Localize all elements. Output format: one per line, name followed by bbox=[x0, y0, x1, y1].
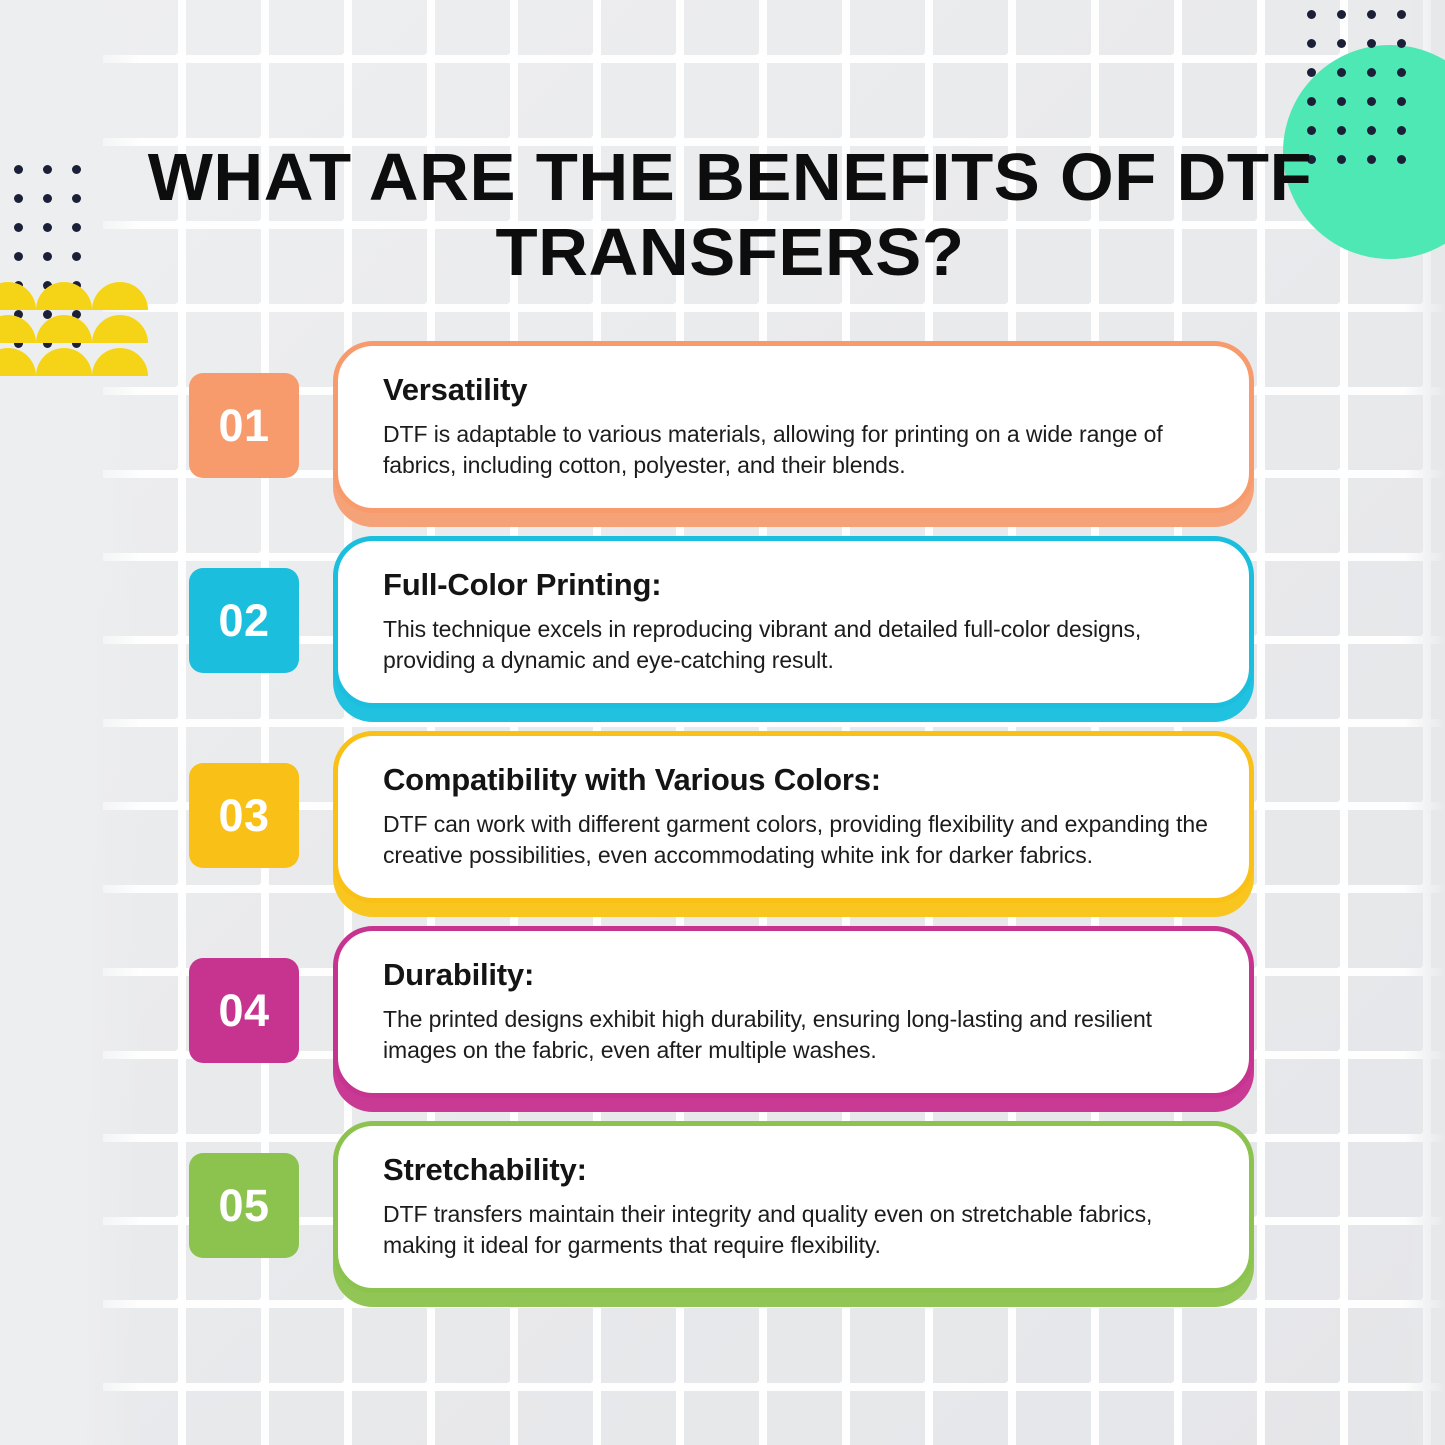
benefit-card: Durability:The printed designs exhibit h… bbox=[333, 926, 1254, 1098]
page-title-line-1: WHAT ARE THE BENEFITS OF DTF bbox=[133, 140, 1328, 215]
decorative-dot bbox=[14, 194, 23, 203]
benefit-card-surface: Full-Color Printing:This technique excel… bbox=[333, 536, 1254, 708]
decorative-dot bbox=[14, 223, 23, 232]
benefit-description: DTF can work with different garment colo… bbox=[383, 809, 1209, 871]
benefit-title: Compatibility with Various Colors: bbox=[383, 762, 1209, 798]
page-title-line-2: TRANSFERS? bbox=[133, 215, 1328, 290]
benefit-row: 04Durability:The printed designs exhibit… bbox=[0, 926, 1445, 1121]
benefit-row: 02Full-Color Printing:This technique exc… bbox=[0, 536, 1445, 731]
benefit-number: 05 bbox=[218, 1180, 269, 1232]
benefit-card-surface: Compatibility with Various Colors:DTF ca… bbox=[333, 731, 1254, 903]
decorative-dot bbox=[72, 194, 81, 203]
benefit-title: Stretchability: bbox=[383, 1152, 1209, 1188]
decorative-dot bbox=[1397, 97, 1406, 106]
benefit-card-surface: VersatilityDTF is adaptable to various m… bbox=[333, 341, 1254, 513]
half-circle-shape bbox=[0, 315, 36, 343]
benefit-title: Versatility bbox=[383, 372, 1209, 408]
benefit-number-badge: 01 bbox=[189, 373, 299, 478]
decorative-dot bbox=[1307, 97, 1316, 106]
benefit-description: The printed designs exhibit high durabil… bbox=[383, 1004, 1209, 1066]
decorative-dot bbox=[1337, 68, 1346, 77]
benefit-card: Stretchability:DTF transfers maintain th… bbox=[333, 1121, 1254, 1293]
benefit-number: 02 bbox=[218, 595, 269, 647]
decorative-dot bbox=[43, 194, 52, 203]
decorative-dot bbox=[72, 252, 81, 261]
benefit-number: 03 bbox=[218, 790, 269, 842]
benefit-row: 05Stretchability:DTF transfers maintain … bbox=[0, 1121, 1445, 1321]
decorative-dot bbox=[1397, 126, 1406, 135]
benefit-number-badge: 05 bbox=[189, 1153, 299, 1258]
benefit-card-surface: Durability:The printed designs exhibit h… bbox=[333, 926, 1254, 1098]
decorative-dot bbox=[72, 165, 81, 174]
decorative-dot bbox=[1337, 39, 1346, 48]
decorative-dot bbox=[1307, 39, 1316, 48]
benefit-number: 01 bbox=[218, 400, 269, 452]
decorative-dot bbox=[72, 223, 81, 232]
benefit-number-badge: 04 bbox=[189, 958, 299, 1063]
benefit-description: DTF transfers maintain their integrity a… bbox=[383, 1199, 1209, 1261]
benefit-card: Full-Color Printing:This technique excel… bbox=[333, 536, 1254, 708]
benefit-card: VersatilityDTF is adaptable to various m… bbox=[333, 341, 1254, 513]
decorative-dot bbox=[43, 223, 52, 232]
half-circle-shape bbox=[0, 282, 36, 310]
benefit-title: Durability: bbox=[383, 957, 1209, 993]
decorative-dot bbox=[1397, 10, 1406, 19]
infographic-page: WHAT ARE THE BENEFITS OF DTF TRANSFERS? … bbox=[0, 0, 1445, 1445]
decorative-dot bbox=[1307, 10, 1316, 19]
decorative-dot bbox=[14, 252, 23, 261]
decorative-dot bbox=[1367, 97, 1376, 106]
benefit-number-badge: 03 bbox=[189, 763, 299, 868]
decorative-dot bbox=[1307, 126, 1316, 135]
benefit-number: 04 bbox=[218, 985, 269, 1037]
decorative-dot bbox=[43, 165, 52, 174]
benefit-row: 03Compatibility with Various Colors:DTF … bbox=[0, 731, 1445, 926]
decorative-dot bbox=[1397, 155, 1406, 164]
benefit-row: 01VersatilityDTF is adaptable to various… bbox=[0, 341, 1445, 536]
decorative-dot bbox=[1307, 68, 1316, 77]
decorative-dot bbox=[1397, 39, 1406, 48]
decorative-dot bbox=[1367, 68, 1376, 77]
decorative-dot bbox=[14, 165, 23, 174]
benefit-description: DTF is adaptable to various materials, a… bbox=[383, 419, 1209, 481]
decorative-dot bbox=[1337, 97, 1346, 106]
benefit-card-surface: Stretchability:DTF transfers maintain th… bbox=[333, 1121, 1254, 1293]
decorative-dot bbox=[43, 252, 52, 261]
decorative-dot bbox=[1367, 10, 1376, 19]
half-circle-shape bbox=[36, 315, 92, 343]
benefits-list: 01VersatilityDTF is adaptable to various… bbox=[0, 341, 1445, 1321]
page-title: WHAT ARE THE BENEFITS OF DTF TRANSFERS? bbox=[133, 140, 1328, 290]
decorative-dot bbox=[1337, 126, 1346, 135]
decorative-dot bbox=[1367, 126, 1376, 135]
decorative-dot bbox=[1337, 10, 1346, 19]
decorative-dot bbox=[1367, 155, 1376, 164]
half-circle-shape bbox=[36, 282, 92, 310]
decorative-dot bbox=[1397, 68, 1406, 77]
benefit-description: This technique excels in reproducing vib… bbox=[383, 614, 1209, 676]
decorative-dot bbox=[1337, 155, 1346, 164]
decorative-dot bbox=[1367, 39, 1376, 48]
half-circle-shape bbox=[92, 315, 148, 343]
benefit-number-badge: 02 bbox=[189, 568, 299, 673]
benefit-title: Full-Color Printing: bbox=[383, 567, 1209, 603]
benefit-card: Compatibility with Various Colors:DTF ca… bbox=[333, 731, 1254, 903]
